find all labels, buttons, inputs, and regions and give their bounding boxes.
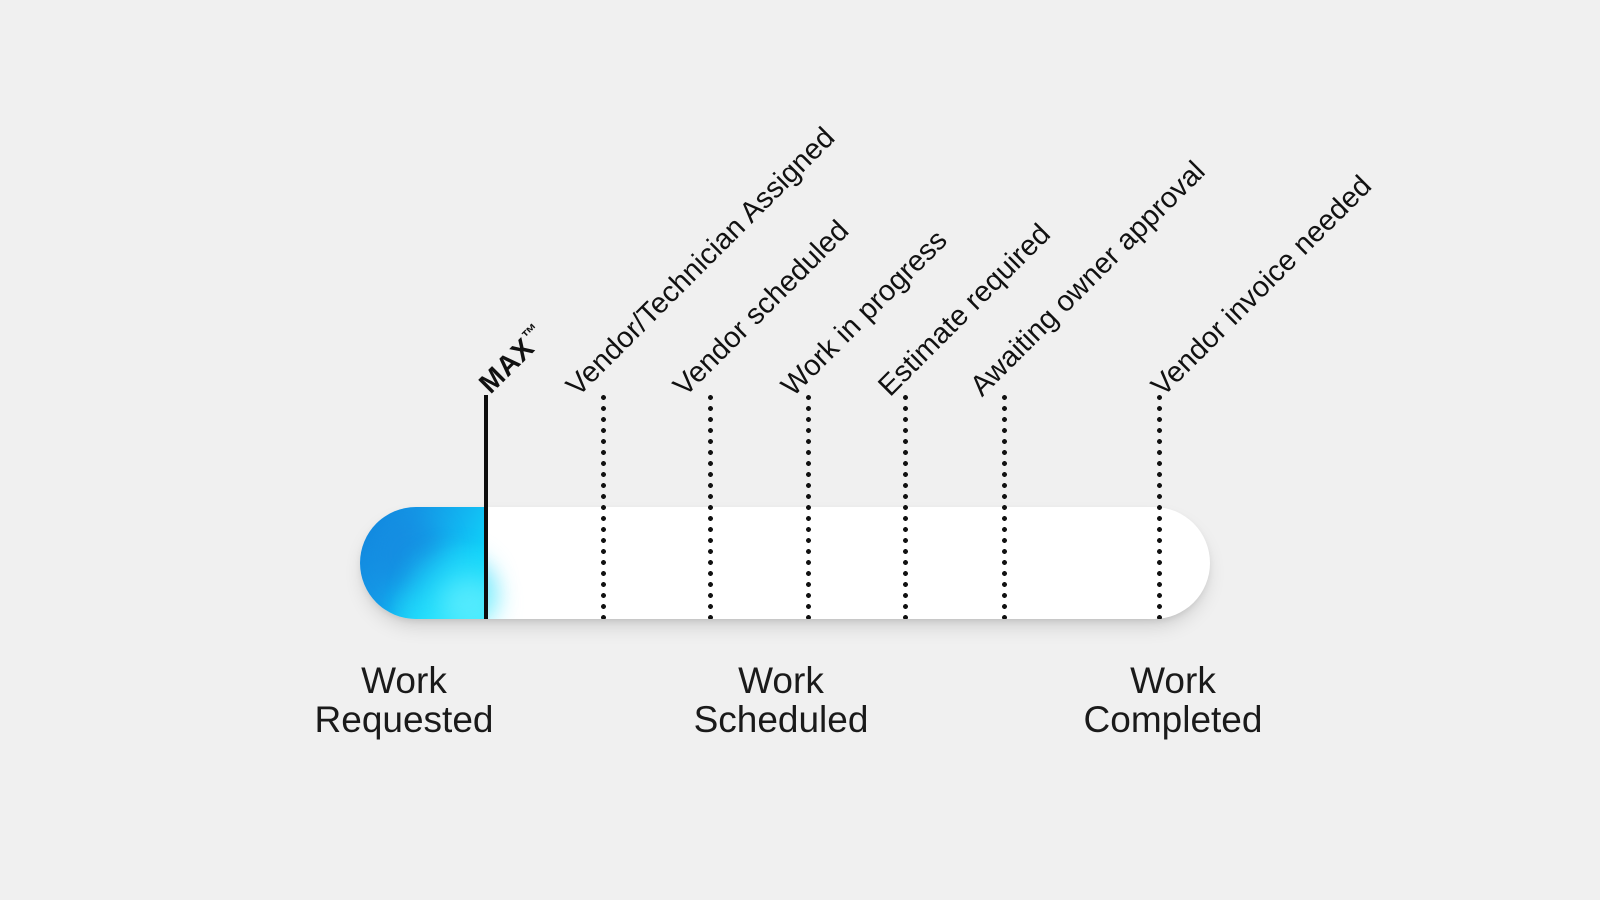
milestone-label-text: Estimate required [872,218,1057,403]
stage-caption-line-2: Requested [194,701,614,740]
stage-caption-line-1: Work [963,662,1383,701]
divider-work-in-progress [806,395,811,619]
stage-caption-work-requested: Work Requested [194,662,614,740]
gradient-blob [374,517,444,591]
gradient-blob [440,577,498,619]
stage-caption-work-completed: Work Completed [963,662,1383,740]
gradient-blob [412,553,494,619]
divider-awaiting-approval [1002,395,1007,619]
stage-caption-line-2: Scheduled [571,701,991,740]
stage-caption-work-scheduled: Work Scheduled [571,662,991,740]
divider-vendor-scheduled [708,395,713,619]
stage-caption-line-1: Work [571,662,991,701]
milestone-label-estimate-required: Estimate required [872,218,1057,403]
milestone-label-max: MAX™ [472,319,553,400]
divider-vendor-tech-assigned [601,395,606,619]
divider-vendor-invoice [1157,395,1162,619]
stage-caption-line-2: Completed [963,701,1383,740]
divider-estimate-required [903,395,908,619]
stage-caption-line-1: Work [194,662,614,701]
max-divider-line [484,395,488,619]
progress-pill-fill [360,507,484,619]
diagram-canvas: MAX™ Vendor/Technician Assigned Vendor s… [0,0,1600,900]
